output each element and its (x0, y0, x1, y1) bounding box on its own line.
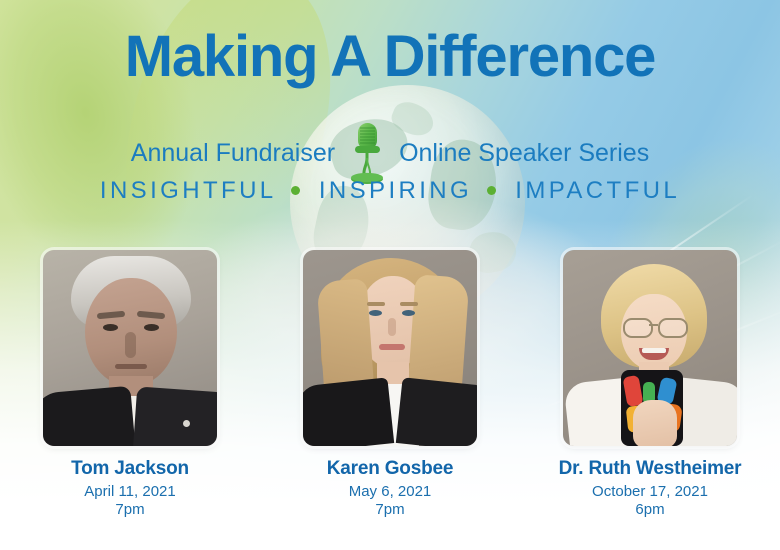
speaker-name: Karen Gosbee (327, 458, 453, 480)
tagline-bullet-icon (487, 186, 496, 195)
tagline-bullet-icon (291, 186, 300, 195)
speaker-name: Dr. Ruth Westheimer (559, 458, 742, 480)
tagline-word-2: INSPIRING (319, 177, 472, 204)
speaker-card-dr-ruth-westheimer[interactable]: Dr. Ruth Westheimer October 17, 2021 6pm (520, 250, 780, 518)
subtitle-right: Online Speaker Series (399, 139, 649, 168)
speaker-card-karen-gosbee[interactable]: Karen Gosbee May 6, 2021 7pm (260, 250, 520, 518)
poster-headline: Making A Difference (0, 28, 780, 86)
speaker-photo-tom-jackson (43, 250, 217, 446)
subtitle-left: Annual Fundraiser (131, 139, 335, 168)
speaker-card-tom-jackson[interactable]: Tom Jackson April 11, 2021 7pm (0, 250, 260, 518)
speaker-photo-karen-gosbee (303, 250, 477, 446)
speaker-date: April 11, 2021 (84, 483, 175, 500)
speaker-time: 7pm (375, 501, 404, 518)
speaker-date: October 17, 2021 (592, 483, 708, 500)
tagline-word-3: IMPACTFUL (515, 177, 680, 204)
speaker-list: Tom Jackson April 11, 2021 7pm (0, 250, 780, 540)
speaker-photo-dr-ruth-westheimer (563, 250, 737, 446)
tagline-word-1: INSIGHTFUL (100, 177, 276, 204)
event-poster: Making A Difference Annual Fundraiser (0, 0, 780, 550)
speaker-name: Tom Jackson (71, 458, 189, 480)
speaker-date: May 6, 2021 (349, 483, 432, 500)
poster-tagline: INSIGHTFUL INSPIRING IMPACTFUL (0, 177, 780, 205)
speaker-time: 7pm (115, 501, 144, 518)
speaker-time: 6pm (635, 501, 664, 518)
